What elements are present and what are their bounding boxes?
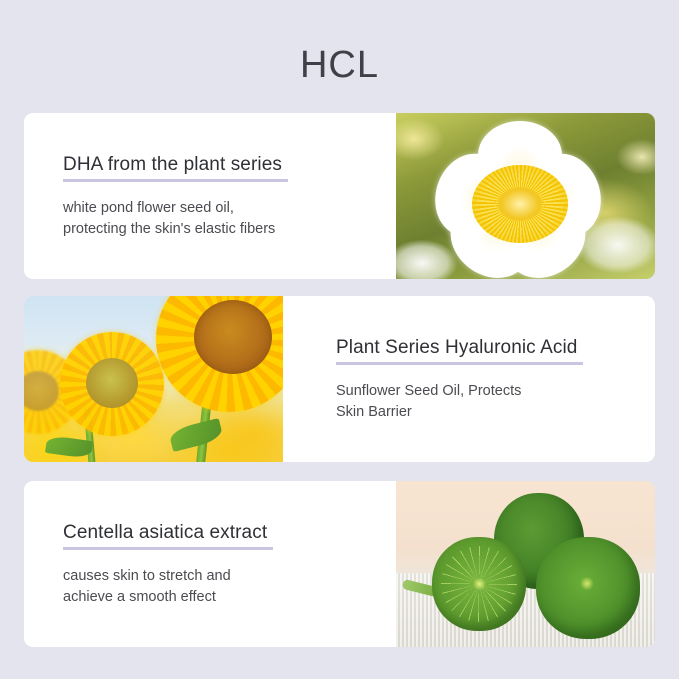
sunflower-bloom — [156, 296, 283, 412]
sunflower-bloom — [60, 332, 164, 436]
sunflower-center — [86, 358, 138, 408]
centella-asiatica-leaves-photo — [396, 481, 655, 647]
ingredient-description: white pond flower seed oil, protecting t… — [63, 198, 378, 240]
flower-center — [472, 165, 568, 243]
page-title: HCL — [0, 41, 679, 89]
centella-leaf — [432, 537, 526, 631]
centella-leaf — [536, 537, 640, 639]
card-text-block: DHA from the plant series white pond flo… — [24, 113, 396, 279]
ingredient-description: causes skin to stretch and achieve a smo… — [63, 566, 378, 608]
flower-illustration — [432, 123, 608, 273]
ingredient-heading: DHA from the plant series — [63, 153, 288, 182]
ingredient-card-hyaluronic-acid: Plant Series Hyaluronic Acid Sunflower S… — [24, 296, 655, 462]
white-pond-flower-photo — [396, 113, 655, 279]
card-text-block: Plant Series Hyaluronic Acid Sunflower S… — [283, 296, 655, 462]
ingredient-heading: Plant Series Hyaluronic Acid — [336, 336, 583, 365]
sunflower-center — [194, 300, 272, 374]
ingredient-infographic-page: HCL DHA from the plant series white pond… — [0, 0, 679, 679]
sunflower-field-photo — [24, 296, 283, 462]
ingredient-card-centella: Centella asiatica extract causes skin to… — [24, 481, 655, 647]
ingredient-heading: Centella asiatica extract — [63, 521, 273, 550]
card-text-block: Centella asiatica extract causes skin to… — [24, 481, 396, 647]
ingredient-description: Sunflower Seed Oil, Protects Skin Barrie… — [336, 381, 637, 423]
ingredient-card-dha: DHA from the plant series white pond flo… — [24, 113, 655, 279]
sunflower-center — [24, 371, 59, 411]
